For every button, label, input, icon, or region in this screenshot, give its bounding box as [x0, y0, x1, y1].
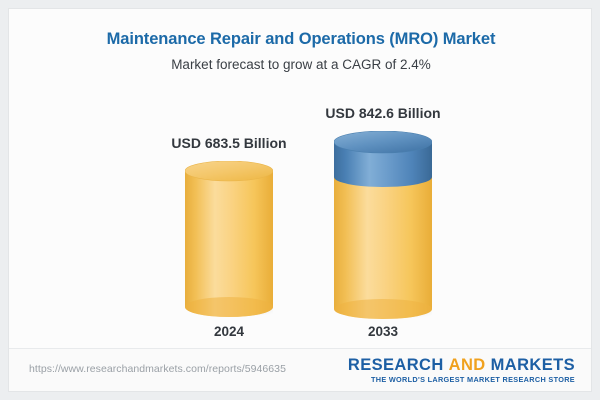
cylinder-bar-2024[interactable]	[185, 161, 273, 317]
category-label-2033: 2033	[273, 324, 493, 339]
value-label-2024: USD 683.5 Billion	[119, 135, 339, 151]
research-and-markets-logo[interactable]: RESEARCH AND MARKETS THE WORLD'S LARGEST…	[348, 355, 575, 385]
cylinder-bar-2033[interactable]	[334, 131, 432, 319]
logo-word-and: AND	[449, 356, 486, 374]
chart-card: Maintenance Repair and Operations (MRO) …	[8, 8, 592, 392]
footer: https://www.researchandmarkets.com/repor…	[9, 348, 592, 391]
logo-word-research: RESEARCH	[348, 356, 444, 374]
value-label-2033: USD 842.6 Billion	[273, 105, 493, 121]
logo-word-markets: MARKETS	[491, 356, 575, 374]
logo-tagline: THE WORLD'S LARGEST MARKET RESEARCH STOR…	[348, 375, 575, 385]
logo-wordmark: RESEARCH AND MARKETS	[348, 355, 575, 375]
report-url[interactable]: https://www.researchandmarkets.com/repor…	[29, 363, 286, 375]
plot-area: USD 683.5 Billion	[9, 9, 592, 349]
